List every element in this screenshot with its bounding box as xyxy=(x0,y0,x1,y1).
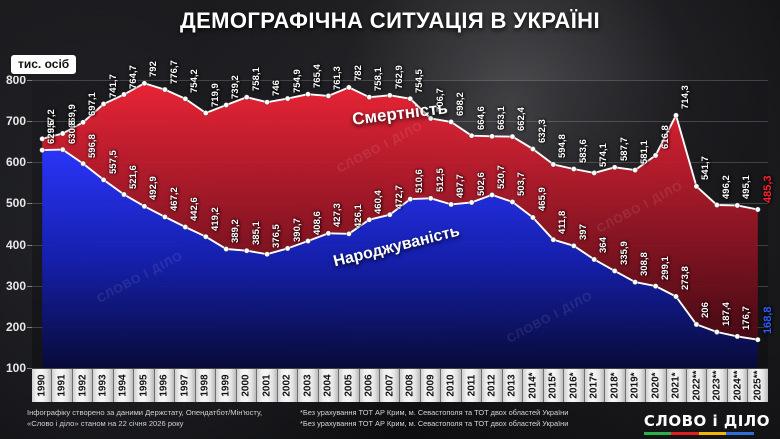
birth-data-point xyxy=(81,161,86,166)
death-data-point xyxy=(551,162,556,167)
x-axis-tick: 1990 xyxy=(32,369,52,402)
x-axis-tick-label: 1999 xyxy=(220,374,231,396)
death-data-point xyxy=(142,81,147,86)
death-data-point xyxy=(81,120,86,125)
x-axis-tick: 2011 xyxy=(462,369,482,402)
logo-bar-blue xyxy=(726,432,754,435)
x-axis-tick-label: 1996 xyxy=(159,374,170,396)
birth-data-point xyxy=(530,215,535,220)
footer-notes: *Без урахування ТОТ АР Крим, м. Севастоп… xyxy=(300,407,568,429)
birth-data-point xyxy=(592,257,597,262)
y-axis-tick-label: 200 xyxy=(6,320,26,334)
birth-data-point xyxy=(428,196,433,201)
x-axis-tick-label: 1994 xyxy=(118,374,129,396)
birth-data-point xyxy=(244,248,249,253)
death-data-point xyxy=(489,134,494,139)
birth-data-point xyxy=(571,243,576,248)
death-data-point xyxy=(162,87,167,92)
birth-data-point xyxy=(489,192,494,197)
x-axis-tick: 1996 xyxy=(155,369,175,402)
x-axis-tick-label: 2000 xyxy=(241,374,252,396)
y-axis-tick-label: 400 xyxy=(6,238,26,252)
x-axis-tick-label: 2001 xyxy=(261,374,272,396)
x-axis-tick: 2023** xyxy=(707,369,727,402)
logo-color-bar xyxy=(644,432,754,435)
unit-badge: тис. осіб xyxy=(9,53,78,76)
x-axis-tick: 2006 xyxy=(360,369,380,402)
death-data-point xyxy=(571,166,576,171)
birth-data-point xyxy=(735,334,740,339)
y-axis-tick-label: 100 xyxy=(6,361,26,375)
x-axis-tick-label: 2021* xyxy=(671,372,682,398)
footnote-1: *Без урахування ТОТ АР Крим, м. Севастоп… xyxy=(300,407,568,418)
birth-data-point xyxy=(265,252,270,257)
x-axis-tick: 1994 xyxy=(114,369,134,402)
x-axis-tick-label: 2025** xyxy=(753,370,764,400)
death-data-point xyxy=(735,203,740,208)
birth-data-point xyxy=(121,192,126,197)
x-axis-tick-label: 1990 xyxy=(36,374,47,396)
birth-data-point xyxy=(162,214,167,219)
x-axis-tick: 2017* xyxy=(585,369,605,402)
x-axis-tick: 1995 xyxy=(134,369,154,402)
x-axis-tick: 1993 xyxy=(93,369,113,402)
y-axis-tick-label: 300 xyxy=(6,279,26,293)
y-axis-tick-label: 600 xyxy=(6,155,26,169)
birth-data-point xyxy=(755,337,760,342)
birth-data-point xyxy=(40,148,45,153)
death-data-point xyxy=(714,202,719,207)
x-axis-tick: 2000 xyxy=(237,369,257,402)
x-axis-tick: 2001 xyxy=(257,369,277,402)
x-axis-tick: 2004 xyxy=(319,369,339,402)
x-axis-tick: 2008 xyxy=(400,369,420,402)
footer-source: Інфографіку створено за даними Держстату… xyxy=(27,407,262,429)
logo-bar-green xyxy=(644,432,672,435)
x-axis-tick-label: 1997 xyxy=(180,374,191,396)
death-data-point xyxy=(530,146,535,151)
birth-data-point xyxy=(305,238,310,243)
death-data-point xyxy=(367,95,372,100)
x-axis-tick-label: 2022** xyxy=(691,370,702,400)
death-data-point xyxy=(101,101,106,106)
birth-data-point xyxy=(326,231,331,236)
x-axis-tick-label: 2005 xyxy=(343,374,354,396)
death-data-point xyxy=(469,133,474,138)
x-axis-tick: 2020* xyxy=(646,369,666,402)
x-axis-tick-label: 1991 xyxy=(57,374,68,396)
x-axis-tick: 2014* xyxy=(523,369,543,402)
x-axis-tick-label: 2015* xyxy=(548,372,559,398)
birth-data-point xyxy=(224,246,229,251)
x-axis-tick: 2002 xyxy=(278,369,298,402)
x-axis-tick: 1998 xyxy=(196,369,216,402)
x-axis-tick-label: 2003 xyxy=(302,374,313,396)
x-axis-tick: 1997 xyxy=(175,369,195,402)
birth-data-point xyxy=(203,234,208,239)
x-axis-tick: 1991 xyxy=(52,369,72,402)
x-axis-tick: 2019* xyxy=(626,369,646,402)
death-data-point xyxy=(428,116,433,121)
x-axis-tick-label: 2011 xyxy=(466,375,477,397)
birth-data-point xyxy=(285,246,290,251)
x-axis-tick-label: 2012 xyxy=(487,374,498,396)
death-data-point xyxy=(694,184,699,189)
birth-data-point xyxy=(142,204,147,209)
birth-data-point xyxy=(510,199,515,204)
death-data-point xyxy=(653,153,658,158)
x-axis-tick: 2013 xyxy=(503,369,523,402)
y-axis-tick-label: 700 xyxy=(6,114,26,128)
x-axis-tick: 2009 xyxy=(421,369,441,402)
death-data-point xyxy=(755,207,760,212)
birth-data-point xyxy=(183,224,188,229)
death-data-point xyxy=(265,100,270,105)
x-axis-tick: 2007 xyxy=(380,369,400,402)
death-data-point xyxy=(183,96,188,101)
chart-plot-area: 100200300400500600700800 657 xyxy=(32,80,768,368)
death-data-point xyxy=(633,168,638,173)
birth-data-point xyxy=(551,237,556,242)
death-data-point xyxy=(592,170,597,175)
birth-data-point xyxy=(469,200,474,205)
x-axis-tick-label: 2018* xyxy=(609,372,620,398)
death-data-point xyxy=(612,165,617,170)
x-axis-tick-label: 2007 xyxy=(384,374,395,396)
x-axis-tick-label: 1998 xyxy=(200,374,211,396)
x-axis-tick-label: 2019* xyxy=(630,372,641,398)
birth-data-point xyxy=(60,147,65,152)
death-data-point xyxy=(346,85,351,90)
birth-data-point xyxy=(367,217,372,222)
page-title: ДЕМОГРАФІЧНА СИТУАЦІЯ В УКРАЇНІ xyxy=(0,8,780,34)
death-data-point xyxy=(305,92,310,97)
x-axis-tick: 2012 xyxy=(482,369,502,402)
death-data-point xyxy=(203,110,208,115)
x-axis-tick-label: 2009 xyxy=(425,374,436,396)
x-axis-tick-label: 2017* xyxy=(589,372,600,398)
x-axis-tick-label: 2023** xyxy=(712,370,723,400)
x-axis-tick-label: 2014* xyxy=(527,372,538,398)
birth-data-point xyxy=(408,197,413,202)
death-data-point xyxy=(285,96,290,101)
x-axis-tick: 2003 xyxy=(298,369,318,402)
birth-data-point xyxy=(694,322,699,327)
death-data-point xyxy=(673,113,678,118)
brand-logo: СЛОВО і ДІЛО xyxy=(644,412,770,435)
birth-data-point xyxy=(673,294,678,299)
death-data-point xyxy=(244,95,249,100)
infographic-root: ДЕМОГРАФІЧНА СИТУАЦІЯ В УКРАЇНІ тис. осі… xyxy=(0,0,780,439)
x-axis-tick: 2025** xyxy=(748,369,767,402)
death-data-point xyxy=(510,134,515,139)
birth-data-point xyxy=(714,329,719,334)
death-data-point xyxy=(40,136,45,141)
x-axis-tick: 2021* xyxy=(667,369,687,402)
x-axis-tick-label: 2008 xyxy=(405,374,416,396)
x-axis-tick-label: 2010 xyxy=(446,374,457,396)
birth-data-point xyxy=(387,212,392,217)
x-axis-tick-label: 2006 xyxy=(364,374,375,396)
birth-data-point xyxy=(653,284,658,289)
x-axis-tick: 2005 xyxy=(339,369,359,402)
footer: Інфографіку створено за даними Держстату… xyxy=(0,403,780,439)
chart-svg xyxy=(32,80,768,368)
x-axis-tick-label: 2002 xyxy=(282,374,293,396)
x-axis-tick-label: 1992 xyxy=(77,374,88,396)
logo-bar-red xyxy=(671,432,699,435)
x-axis-tick-label: 2013 xyxy=(507,374,518,396)
x-axis: 1990199119921993199419951996199719981999… xyxy=(32,369,768,402)
birth-data-point xyxy=(633,280,638,285)
x-axis-tick-label: 2016* xyxy=(568,372,579,398)
logo-bar-yellow xyxy=(699,432,727,435)
x-axis-tick: 2015* xyxy=(544,369,564,402)
death-data-point xyxy=(121,92,126,97)
x-axis-tick-label: 2004 xyxy=(323,374,334,396)
footer-source-line2: «Слово і діло» станом на 22 січня 2026 р… xyxy=(27,418,262,429)
x-axis-tick-label: 1993 xyxy=(98,374,109,396)
x-axis-tick: 1992 xyxy=(73,369,93,402)
x-axis-tick: 2016* xyxy=(564,369,584,402)
birth-data-point xyxy=(346,231,351,236)
x-axis-tick: 2022** xyxy=(687,369,707,402)
x-axis-tick: 2018* xyxy=(605,369,625,402)
footnote-2: *Без урахування ТОТ АР Крим, м. Севастоп… xyxy=(300,418,568,429)
x-axis-tick: 2024** xyxy=(728,369,748,402)
y-axis-tick-label: 500 xyxy=(6,196,26,210)
death-data-point xyxy=(449,119,454,124)
death-data-point xyxy=(408,96,413,101)
death-data-point xyxy=(60,131,65,136)
death-data-point xyxy=(387,93,392,98)
x-axis-tick-label: 2024** xyxy=(732,370,743,400)
death-data-point xyxy=(224,102,229,107)
logo-text: СЛОВО і ДІЛО xyxy=(644,412,770,430)
x-axis-tick: 2010 xyxy=(441,369,461,402)
birth-data-point xyxy=(449,202,454,207)
x-axis-tick-label: 1995 xyxy=(139,374,150,396)
birth-data-point xyxy=(101,177,106,182)
x-axis-tick: 1999 xyxy=(216,369,236,402)
death-data-point xyxy=(326,93,331,98)
birth-data-point xyxy=(612,268,617,273)
footer-source-line1: Інфографіку створено за даними Держстату… xyxy=(27,407,262,418)
x-axis-tick-label: 2020* xyxy=(650,372,661,398)
